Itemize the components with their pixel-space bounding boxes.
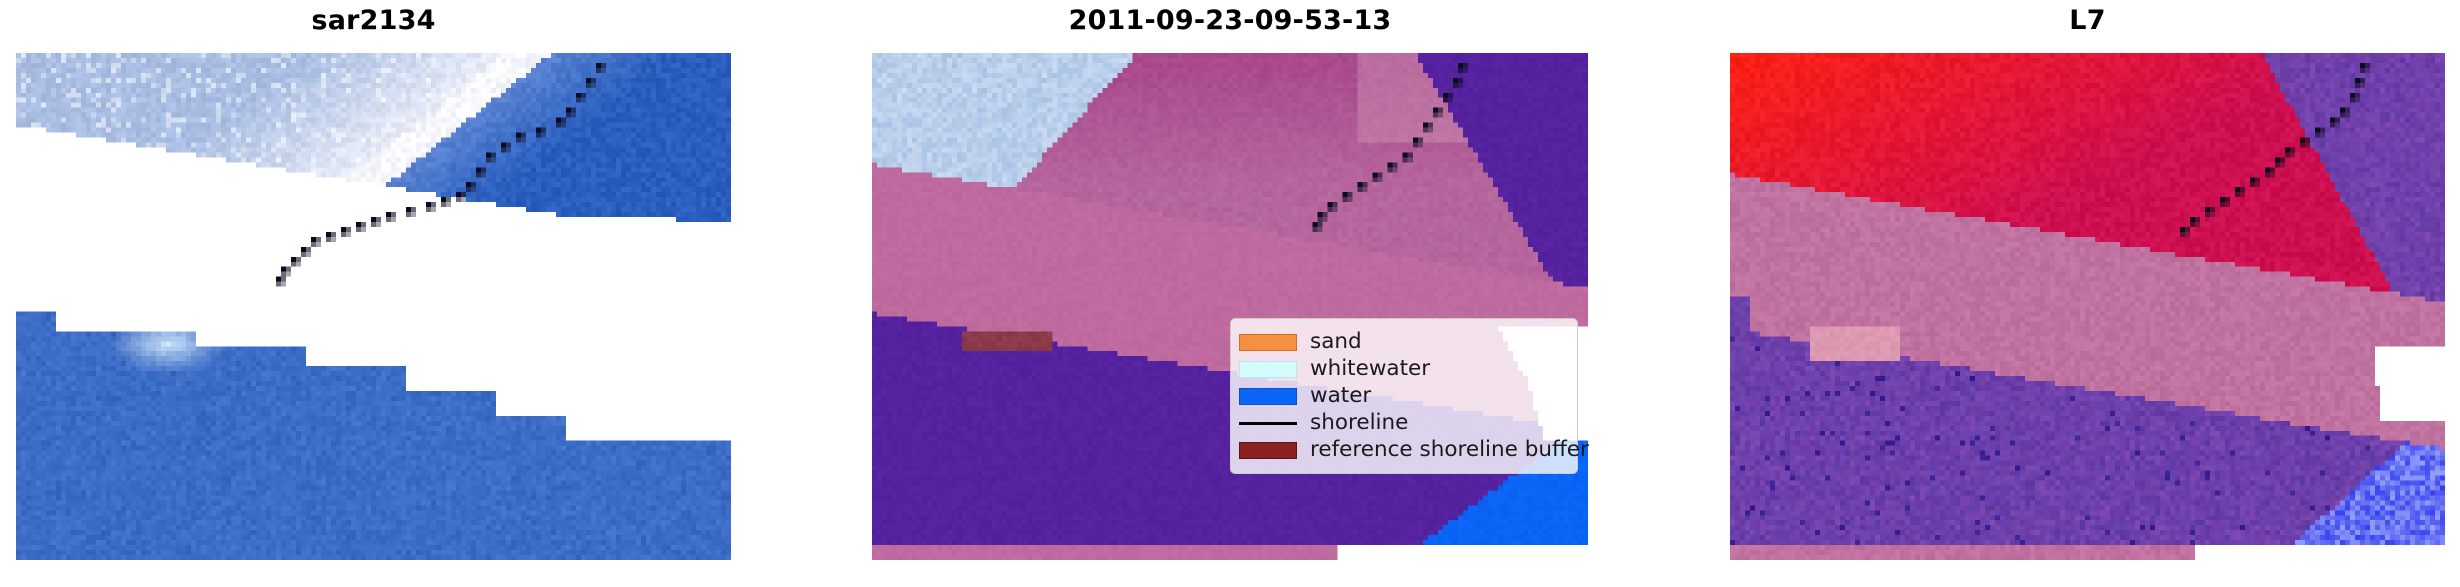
axes-l7 <box>1730 53 2445 560</box>
legend-label-reference-shoreline-buffer: reference shoreline buffer <box>1310 439 1589 461</box>
axes-classified <box>872 53 1588 560</box>
legend-label-sand: sand <box>1310 331 1362 353</box>
legend-item-shoreline: shoreline <box>1239 410 1568 437</box>
legend-label-shoreline: shoreline <box>1310 412 1408 434</box>
legend-swatch-water-icon <box>1239 388 1297 405</box>
legend-swatch-sand-icon <box>1239 334 1297 351</box>
legend: sand whitewater water shoreline referenc… <box>1230 318 1578 474</box>
legend-swatch-whitewater-icon <box>1239 361 1297 378</box>
figure-root: sar2134 2011-09-23-09-53-13 L7 sand <box>0 0 2460 587</box>
legend-item-sand: sand <box>1239 329 1568 356</box>
axes-sar2134 <box>16 53 731 560</box>
legend-item-water: water <box>1239 383 1568 410</box>
legend-label-whitewater: whitewater <box>1310 358 1430 380</box>
raster-l7 <box>1730 53 2445 560</box>
legend-item-whitewater: whitewater <box>1239 356 1568 383</box>
raster-sar2134 <box>16 53 731 560</box>
panel-title-sar2134: sar2134 <box>16 2 731 40</box>
panel-title-l7: L7 <box>1730 2 2445 40</box>
legend-swatch-reference-buffer-icon <box>1239 442 1297 459</box>
legend-item-reference-shoreline-buffer: reference shoreline buffer <box>1239 437 1568 464</box>
raster-classified <box>872 53 1588 560</box>
panel-title-classified: 2011-09-23-09-53-13 <box>872 2 1588 40</box>
legend-swatch-shoreline-line-icon <box>1239 415 1297 432</box>
legend-label-water: water <box>1310 385 1371 407</box>
